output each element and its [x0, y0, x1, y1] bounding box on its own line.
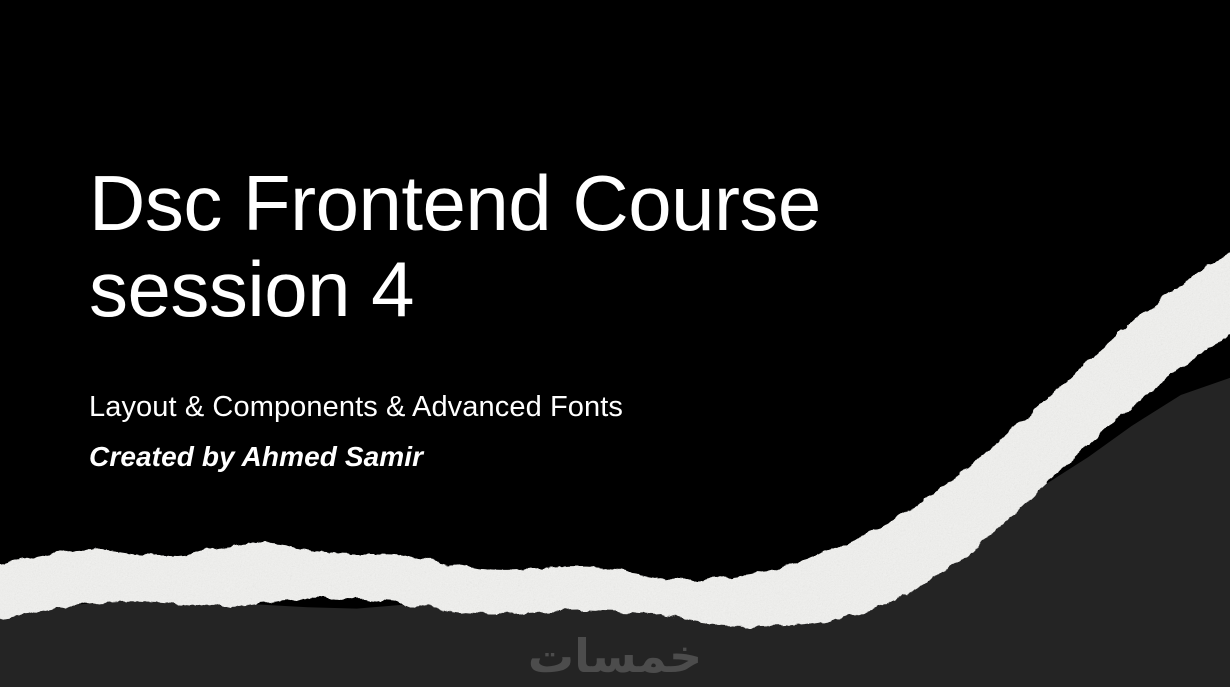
- page-title: Dsc Frontend Course session 4: [89, 160, 849, 332]
- slide-author-credit: Created by Ahmed Samir: [89, 440, 849, 474]
- watermark-khamsat: خمسات: [0, 631, 1230, 681]
- presentation-slide: Dsc Frontend Course session 4 Layout & C…: [0, 0, 1230, 687]
- slide-text-block: Dsc Frontend Course session 4 Layout & C…: [89, 160, 849, 474]
- slide-subtitle: Layout & Components & Advanced Fonts: [89, 390, 849, 424]
